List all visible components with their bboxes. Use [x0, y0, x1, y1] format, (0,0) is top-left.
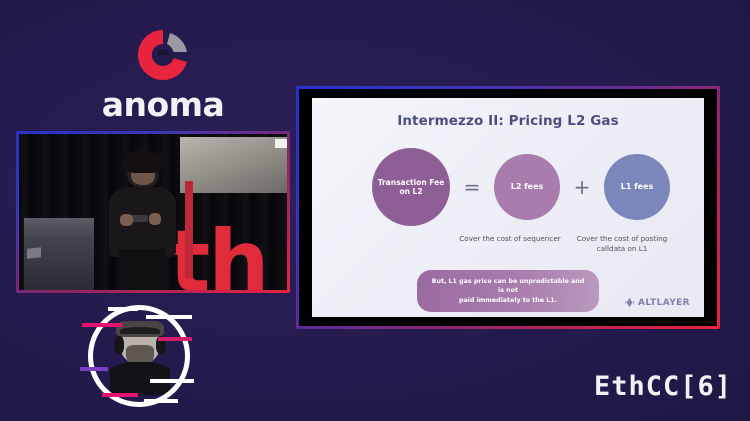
- avatar-glitch-bar: [144, 399, 178, 403]
- plus-operator: +: [560, 175, 604, 199]
- circle-transaction-fee: Transaction Fee on L2: [372, 148, 450, 226]
- slide-title: Intermezzo II: Pricing L2 Gas: [312, 113, 704, 129]
- presenter-clicker: [131, 215, 148, 222]
- speaker-legs: [119, 249, 165, 290]
- fee-formula-row: Transaction Fee on L2 = L2 fees + L1 fee…: [312, 144, 704, 230]
- avatar-glitch-bar: [82, 323, 122, 327]
- circle-l2-fees: L2 fees: [494, 154, 560, 220]
- broadcast-stage: anoma th: [0, 0, 750, 421]
- anoma-brand-block: anoma: [78, 26, 248, 121]
- avatar-glitch-bar: [146, 315, 192, 319]
- microphone-stand: [185, 181, 193, 278]
- avatar-glitch-bar: [150, 379, 194, 383]
- projection-screen: [180, 137, 287, 193]
- caption-l2-fees: Cover the cost of sequencer: [450, 234, 570, 244]
- speaker-hair: [123, 150, 163, 173]
- altlayer-diamond-icon: [624, 297, 635, 308]
- avatar-glitch-bar: [102, 393, 138, 397]
- circle-l2-fees-label: L2 fees: [511, 182, 544, 192]
- lectern-laptop: [27, 248, 41, 259]
- presentation-slide-frame[interactable]: Intermezzo II: Pricing L2 Gas Transactio…: [296, 86, 720, 329]
- anoma-ring-icon: [132, 26, 194, 84]
- ethcc-wordmark: EthCC[6]: [594, 373, 732, 400]
- speaker-left-hand: [120, 214, 133, 226]
- avatar-glitch-bar: [80, 367, 108, 371]
- equals-operator: =: [450, 175, 494, 199]
- slide-callout-banner: But, L1 gas price can be unpredictable a…: [417, 270, 599, 312]
- callout-line1: But, L1 gas price can be unpredictable a…: [432, 278, 585, 294]
- speaker-figure: [107, 154, 177, 290]
- callout-line2: paid immediately to the L1.: [459, 297, 557, 304]
- host-avatar[interactable]: [88, 305, 190, 407]
- avatar-glitch-bar: [158, 337, 192, 341]
- lectern: [24, 218, 94, 290]
- circle-l1-fees: L1 fees: [604, 154, 670, 220]
- speaker-torso: [109, 187, 176, 258]
- slide-letterbox: Intermezzo II: Pricing L2 Gas Transactio…: [299, 89, 717, 326]
- circle-l1-fees-label: L1 fees: [621, 182, 654, 192]
- altlayer-logo: ALTLAYER: [624, 297, 690, 308]
- projection-hotspot: [275, 139, 287, 149]
- speaker-right-hand: [149, 213, 161, 225]
- avatar-ring-frame: [88, 305, 190, 407]
- speaker-video-feed[interactable]: th: [19, 134, 287, 290]
- circle-transaction-fee-line2: on L2: [399, 187, 422, 196]
- stage-backdrop-letters: th: [169, 226, 267, 290]
- presentation-slide[interactable]: Intermezzo II: Pricing L2 Gas Transactio…: [312, 98, 704, 317]
- altlayer-wordmark: ALTLAYER: [638, 298, 690, 308]
- anoma-wordmark: anoma: [102, 88, 225, 121]
- caption-l1-fees: Cover the cost of posting calldata on L1: [562, 234, 682, 255]
- circle-transaction-fee-line1: Transaction Fee: [378, 178, 445, 187]
- avatar-glitch-bar: [108, 307, 138, 311]
- speaker-video-panel[interactable]: th: [16, 131, 290, 293]
